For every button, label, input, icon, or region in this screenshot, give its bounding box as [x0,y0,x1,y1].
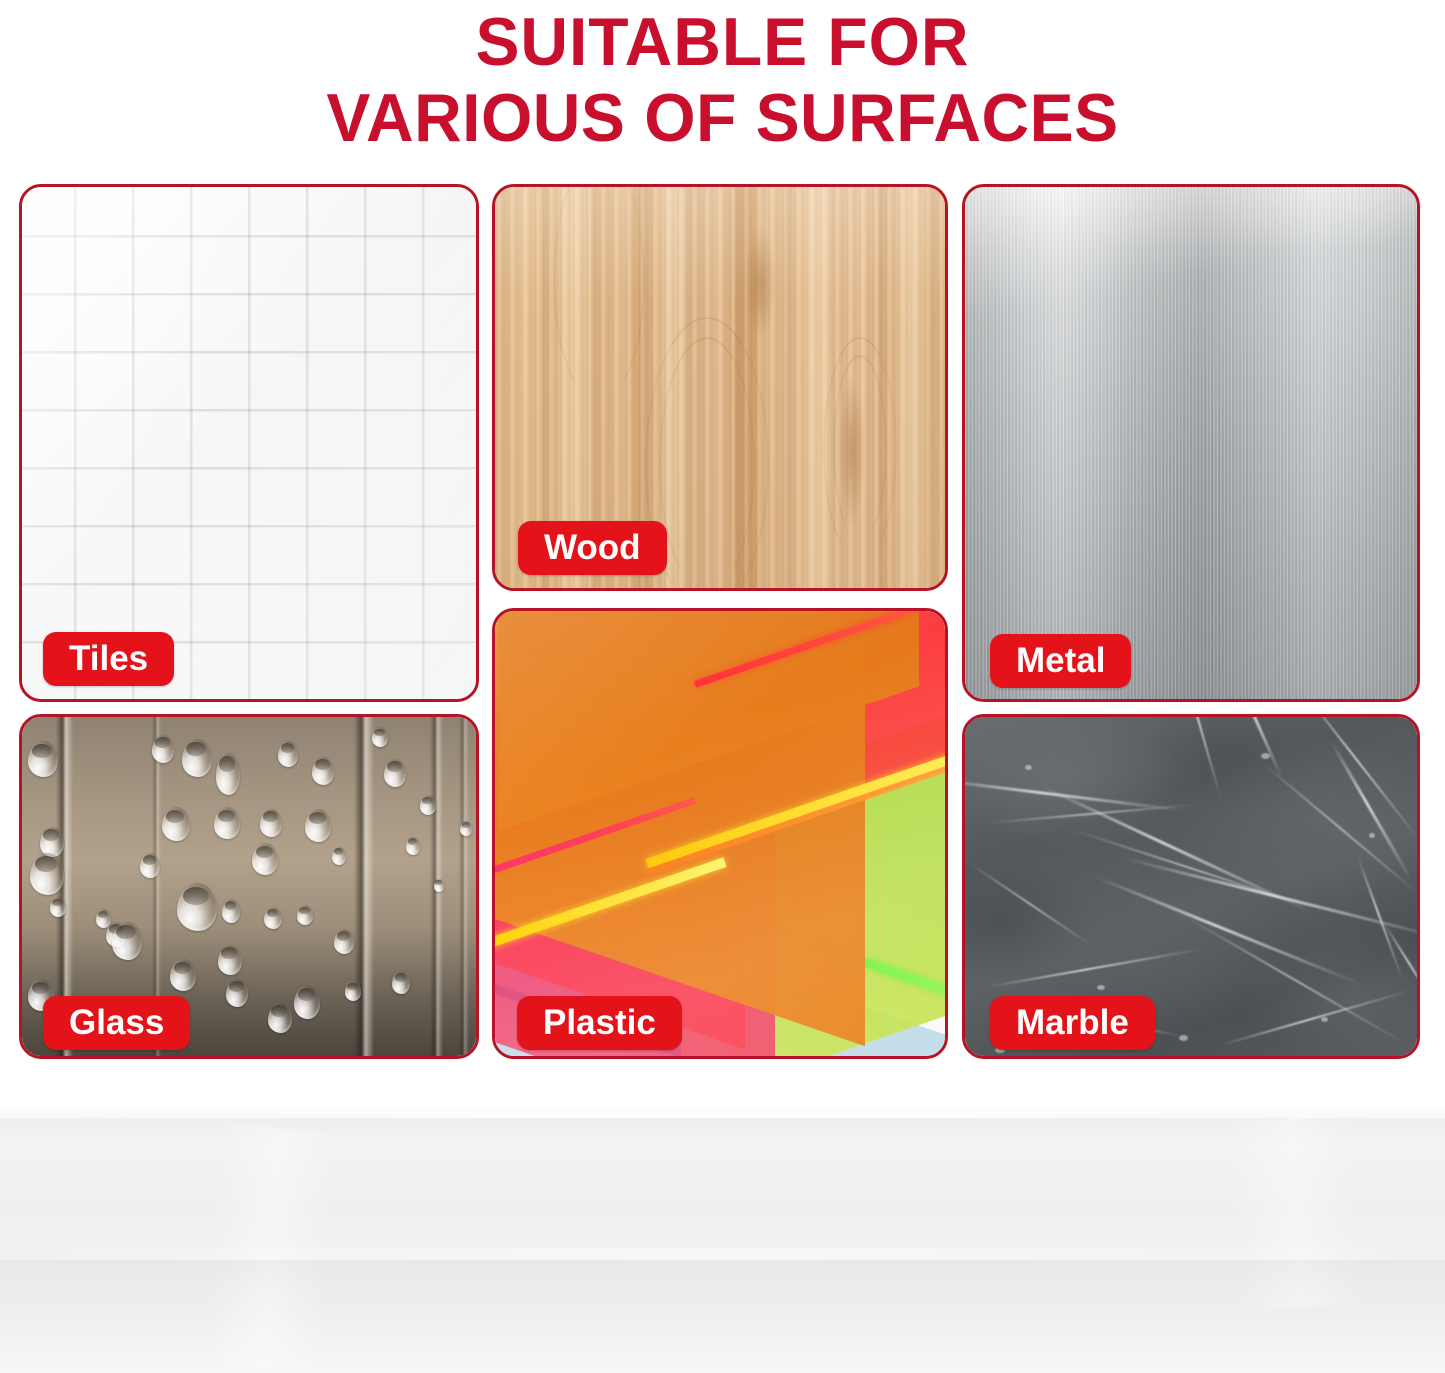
ceramic-tile-grid [22,187,476,699]
surface-panel-plastic [492,608,948,1059]
product-photo-band [0,1108,1445,1373]
surface-label-metal: Metal [990,634,1131,688]
plastic-texture [495,611,945,1056]
surface-label-plastic: Plastic [517,996,682,1050]
surface-label-marble: Marble [990,996,1155,1050]
surface-panel-grid: Tiles Wood Metal [0,0,1445,1075]
brushed-steel [965,187,1417,699]
surface-label-tiles: Tiles [43,632,174,686]
surface-panel-tiles [19,184,479,702]
acrylic-sheet-stack [495,611,945,1056]
tiles-texture [22,187,476,699]
surface-panel-metal [962,184,1420,702]
metal-texture [965,187,1417,699]
surface-label-glass: Glass [43,996,190,1050]
surface-label-wood: Wood [518,521,667,575]
